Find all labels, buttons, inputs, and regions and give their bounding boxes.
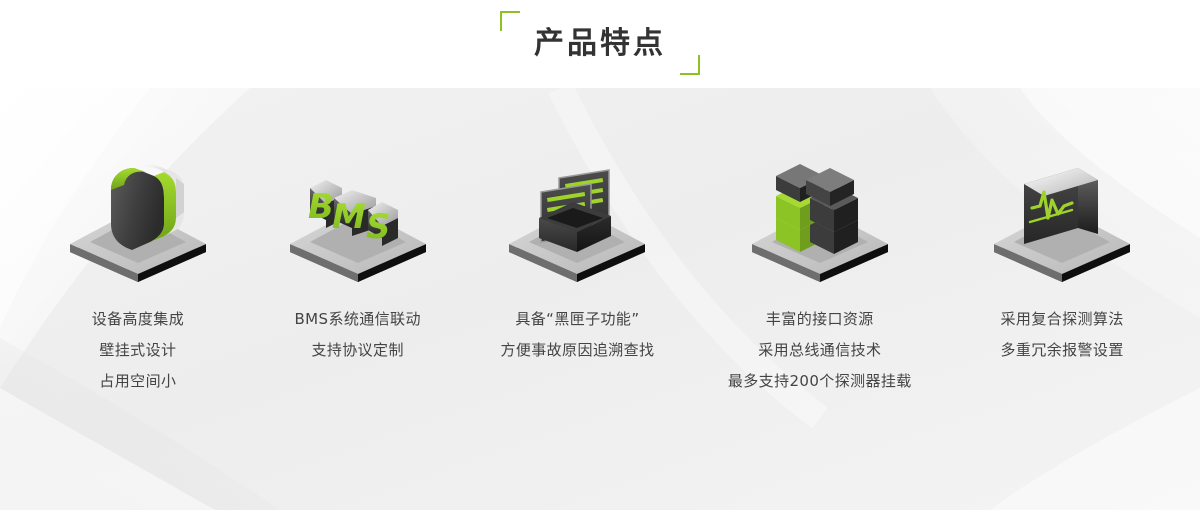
product-features-page: 产品特点 [0, 0, 1200, 510]
caption-line: 壁挂式设计 [92, 335, 184, 366]
caption-line: 设备高度集成 [92, 304, 184, 335]
feature-caption: BMS系统通信联动 支持协议定制 [294, 304, 420, 366]
feature-caption: 丰富的接口资源 采用总线通信技术 最多支持200个探测器挂载 [728, 304, 912, 397]
page-title: 产品特点 [534, 26, 666, 61]
feature-card[interactable]: 具备“黑匣子功能” 方便事故原因追溯查找 [468, 88, 688, 366]
caption-line: 支持协议定制 [294, 335, 420, 366]
caption-line: 采用总线通信技术 [728, 335, 912, 366]
feature-card[interactable]: B M [248, 88, 468, 366]
title-inner: 产品特点 [528, 25, 672, 63]
feature-card[interactable]: 丰富的接口资源 采用总线通信技术 最多支持200个探测器挂载 [687, 88, 952, 397]
page-header: 产品特点 [0, 0, 1200, 88]
caption-line: 多重冗余报警设置 [1001, 335, 1124, 366]
feature-card[interactable]: 采用复合探测算法 多重冗余报警设置 [952, 88, 1172, 366]
feature-cards-row: 设备高度集成 壁挂式设计 占用空间小 [0, 88, 1200, 510]
caption-line: 采用复合探测算法 [1001, 304, 1124, 335]
caption-line: 方便事故原因追溯查找 [500, 335, 654, 366]
caption-line: 最多支持200个探测器挂载 [728, 366, 912, 397]
black-box-records-icon [497, 156, 657, 282]
bms-3d-text-icon: B M [278, 156, 438, 282]
caption-line: 占用空间小 [92, 366, 184, 397]
corner-bracket-bottom-right-icon [680, 55, 700, 75]
feature-caption: 采用复合探测算法 多重冗余报警设置 [1001, 304, 1124, 366]
wall-mounted-device-icon [58, 156, 218, 282]
caption-line: BMS系统通信联动 [294, 304, 420, 335]
feature-caption: 具备“黑匣子功能” 方便事故原因追溯查找 [500, 304, 654, 366]
feature-caption: 设备高度集成 壁挂式设计 占用空间小 [92, 304, 184, 397]
features-section: 设备高度集成 壁挂式设计 占用空间小 [0, 88, 1200, 510]
caption-line: 丰富的接口资源 [728, 304, 912, 335]
interface-cubes-icon [740, 156, 900, 282]
waveform-monitor-icon [982, 156, 1142, 282]
svg-text:B: B [308, 187, 334, 227]
svg-text:S: S [366, 207, 391, 247]
corner-bracket-top-left-icon [500, 11, 520, 31]
title-wrap: 产品特点 [0, 0, 1200, 88]
caption-line: 具备“黑匣子功能” [500, 304, 654, 335]
feature-card[interactable]: 设备高度集成 壁挂式设计 占用空间小 [28, 88, 248, 397]
svg-text:M: M [332, 197, 366, 237]
